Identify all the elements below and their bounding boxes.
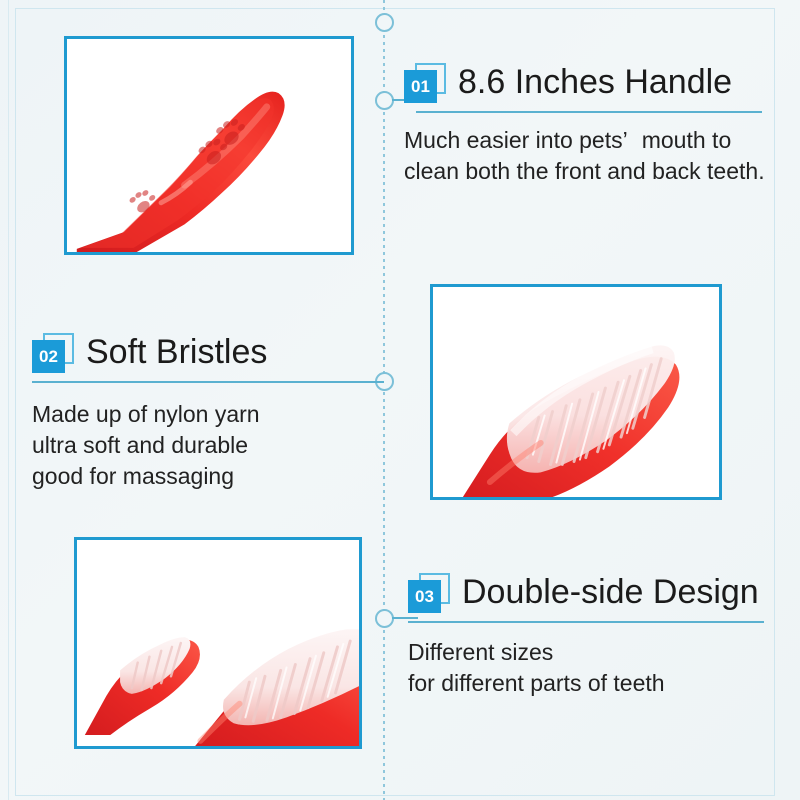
- feature-underline-01: [416, 111, 762, 113]
- feature-body-text-01-1a: Much easier into pets’: [404, 127, 628, 153]
- number-badge-02: 02: [32, 333, 76, 373]
- feature-body-line-03-2: for different parts of teeth: [408, 668, 800, 699]
- feature-body-line-02-3: good for massaging: [32, 461, 384, 492]
- badge-filled-square-02: 02: [32, 340, 65, 373]
- number-badge-03: 03: [408, 573, 452, 613]
- product-photo-bristles: [430, 284, 722, 500]
- feature-header-03: 03 Double-side Design: [408, 570, 800, 616]
- feature-section-03: 03 Double-side Design Different sizes fo…: [408, 570, 800, 699]
- feature-header-01: 01 8.6 Inches Handle: [404, 60, 796, 106]
- feature-body-line-02-2: ultra soft and durable: [32, 430, 384, 461]
- product-infographic: 01 8.6 Inches Handle Much easier into pe…: [0, 0, 800, 800]
- feature-title-01: 8.6 Inches Handle: [458, 65, 732, 101]
- badge-filled-square-03: 03: [408, 580, 441, 613]
- product-photo-handle: [64, 36, 354, 255]
- feature-title-02: Soft Bristles: [86, 335, 267, 371]
- feature-title-03: Double-side Design: [462, 575, 759, 611]
- feature-body-03: Different sizes for different parts of t…: [408, 637, 800, 699]
- feature-body-line-01-2: clean both the front and back teeth.: [404, 156, 796, 187]
- badge-number-01: 01: [411, 78, 430, 95]
- number-badge-01: 01: [404, 63, 448, 103]
- feature-body-02: Made up of nylon yarn ultra soft and dur…: [32, 399, 384, 492]
- feature-section-02: 02 Soft Bristles Made up of nylon yarn u…: [32, 330, 384, 492]
- timeline-node-top: [375, 13, 394, 32]
- feature-body-01: Much easier into pets’mouth to clean bot…: [404, 125, 796, 187]
- badge-number-02: 02: [39, 348, 58, 365]
- badge-number-03: 03: [415, 588, 434, 605]
- feature-underline-03: [408, 621, 764, 623]
- badge-filled-square-01: 01: [404, 70, 437, 103]
- feature-section-01: 01 8.6 Inches Handle Much easier into pe…: [404, 60, 796, 187]
- product-photo-double-side: [74, 537, 362, 749]
- outer-frame-accent-line: [8, 0, 9, 800]
- feature-body-text-01-1b: mouth to: [642, 127, 732, 153]
- feature-body-line-02-1: Made up of nylon yarn: [32, 399, 384, 430]
- feature-header-02: 02 Soft Bristles: [32, 330, 384, 376]
- feature-underline-02: [32, 381, 384, 383]
- feature-body-line-01-1: Much easier into pets’mouth to: [404, 125, 796, 156]
- feature-body-line-03-1: Different sizes: [408, 637, 800, 668]
